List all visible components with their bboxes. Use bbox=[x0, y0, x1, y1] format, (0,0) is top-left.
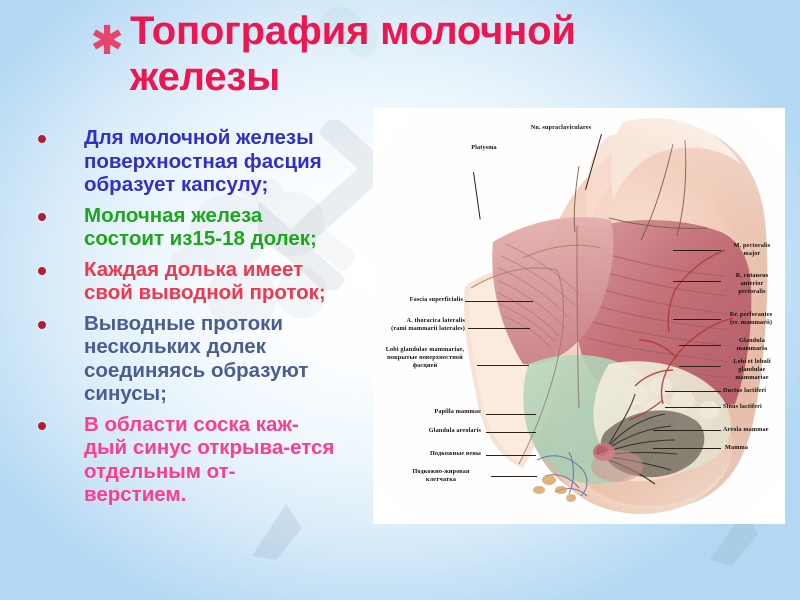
figure-label-lobi-et-lobuli: Lobi et lobuli glandulae mammariae bbox=[721, 358, 783, 383]
leader-line bbox=[486, 432, 536, 433]
figure-label-subcutaneous-fat: Подкожно-жировая клетчатка bbox=[395, 468, 487, 484]
figure-label-glandula-areolaris: Glandula areolaris bbox=[395, 427, 481, 435]
figure-label-fascia-superficialis: Fascia superficialis bbox=[377, 296, 463, 304]
leader-line bbox=[653, 430, 721, 431]
figure-label-ductus-lactiferi: Ductus lactiferi bbox=[723, 387, 785, 395]
bullet-text: Для молочной железы поверхностная фасция… bbox=[84, 126, 374, 197]
anatomy-figure: Nn. supraclaviculares Platysma Fascia su… bbox=[373, 108, 785, 524]
bullet-text: В области соска каж- дый синус открыва-е… bbox=[84, 413, 374, 507]
bullet-text: Выводные протоки нескольких долек соедин… bbox=[84, 312, 374, 406]
figure-label-rr-perforantes: Rr. perforantes (rr. mammarii) bbox=[717, 311, 785, 327]
bullet-dot-icon bbox=[38, 321, 46, 329]
bullet-dot-icon bbox=[38, 422, 46, 430]
asterisk-icon: ✱ bbox=[90, 24, 124, 58]
leader-line bbox=[653, 448, 721, 449]
bullet-dot-icon bbox=[38, 213, 46, 221]
leader-line bbox=[468, 328, 530, 329]
leader-line bbox=[465, 301, 533, 302]
figure-label-areola-mammae: Areola mammae bbox=[723, 426, 785, 434]
figure-label-subcutaneous-veins: Подкожные вены bbox=[401, 450, 481, 458]
list-item: Выводные протоки нескольких долек соедин… bbox=[34, 312, 374, 406]
list-item: Каждая долька имеет свой выводной проток… bbox=[34, 258, 374, 305]
leader-line bbox=[673, 319, 721, 320]
figure-label-m-pectoralis-major: M. pectoralis major bbox=[721, 242, 783, 258]
leader-line bbox=[673, 281, 721, 282]
figure-label-platysma: Platysma bbox=[453, 144, 515, 152]
bullet-text: Каждая долька имеет свой выводной проток… bbox=[84, 258, 374, 305]
leader-line bbox=[665, 391, 721, 392]
list-item: Для молочной железы поверхностная фасция… bbox=[34, 126, 374, 197]
leader-line bbox=[491, 476, 537, 477]
figure-label-r-cutaneus-anterior-pectoralis: R. cutaneus anterior pectoralis bbox=[721, 272, 783, 297]
leader-line bbox=[679, 366, 721, 367]
leader-line bbox=[486, 455, 536, 456]
figure-label-nn-supraclaviculares: Nn. supraclaviculares bbox=[501, 124, 621, 132]
figure-label-glandula-mammaria: Glandula mammaria bbox=[723, 337, 781, 353]
figure-label-mamma: Mamma bbox=[725, 444, 781, 452]
slide-title-block: ✱ Топография молочной железы bbox=[78, 8, 678, 100]
leader-line bbox=[665, 407, 721, 408]
leader-line bbox=[679, 345, 721, 346]
figure-label-lobi-glandulae-mammariae-fascia: Lobi glandulae mammariae, покрытые повер… bbox=[373, 346, 477, 371]
figure-label-a-thoracica-lateralis: A. thoracica lateralis (rami mammarii la… bbox=[375, 317, 465, 333]
list-item: В области соска каж- дый синус открыва-е… bbox=[34, 413, 374, 507]
figure-label-papilla-mammae: Papilla mammae bbox=[397, 408, 481, 416]
page-title: Топография молочной железы bbox=[78, 8, 678, 100]
bullet-dot-icon bbox=[38, 135, 46, 143]
bullet-text: Молочная железа состоит из15-18 долек; bbox=[84, 204, 374, 251]
list-item: Молочная железа состоит из15-18 долек; bbox=[34, 204, 374, 251]
leader-line bbox=[486, 414, 536, 415]
leader-line bbox=[673, 250, 721, 251]
bullet-list: Для молочной железы поверхностная фасция… bbox=[34, 126, 374, 514]
bullet-dot-icon bbox=[38, 267, 46, 275]
slide-canvas: ✱ Топография молочной железы Для молочно… bbox=[0, 0, 800, 600]
leader-line bbox=[477, 365, 529, 366]
figure-label-sinus-lactiferi: Sinus lactiferi bbox=[723, 403, 785, 411]
